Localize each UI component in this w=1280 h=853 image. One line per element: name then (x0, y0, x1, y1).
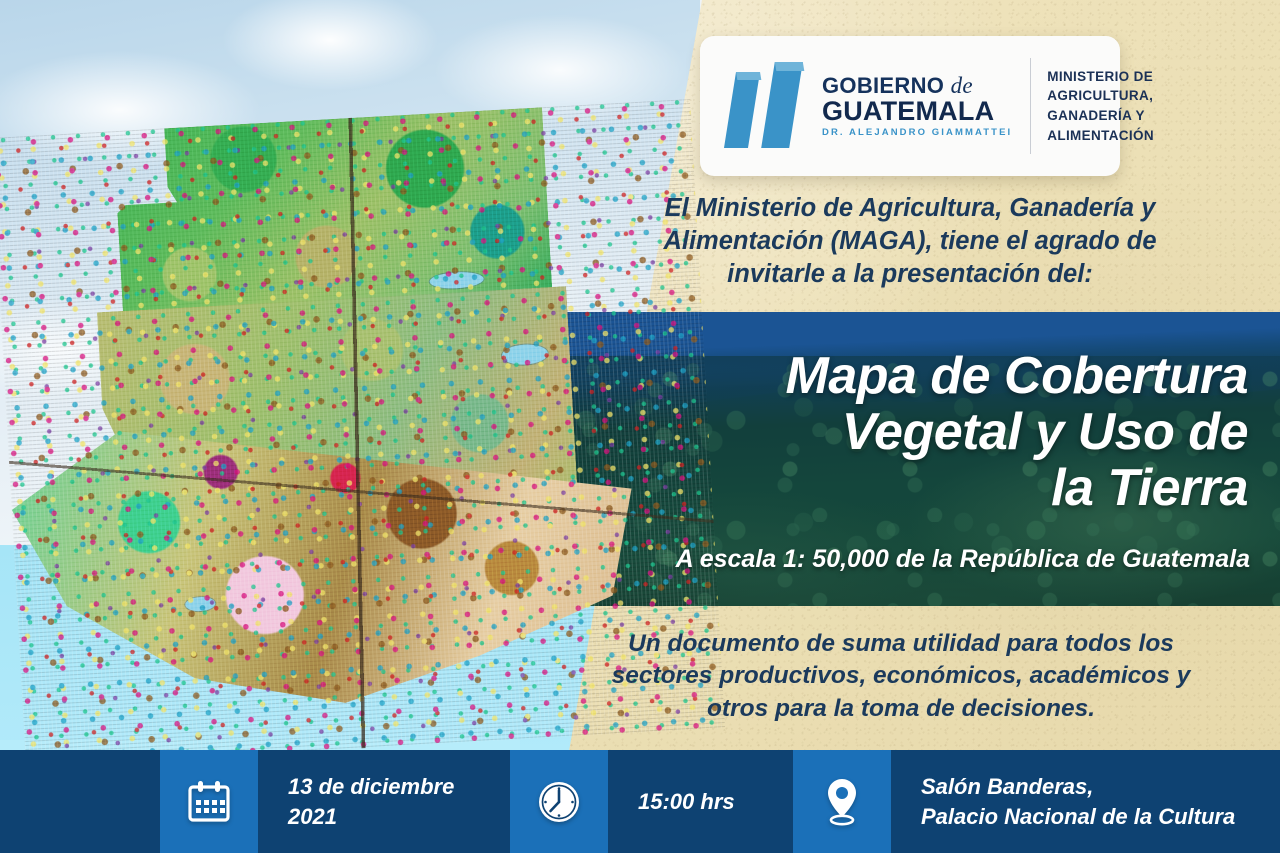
body-line-2: sectores productivos, económicos, académ… (556, 660, 1246, 692)
clock-icon (534, 777, 584, 827)
calendar-icon-tile (160, 750, 258, 853)
gobierno-wordmark: GOBIERNO de GUATEMALA DR. ALEJANDRO GIAM… (822, 74, 1012, 138)
title-line-3: la Tierra (600, 460, 1248, 516)
gobierno-bars-icon (724, 56, 816, 156)
location-pin-icon-tile (793, 750, 891, 853)
location-pin-icon (819, 776, 865, 828)
footer-left-spacer (0, 750, 160, 853)
intro-line-3: invitarle a la presentación del: (566, 258, 1254, 291)
title-scale-subtitle: A escala 1: 50,000 de la República de Gu… (560, 545, 1250, 574)
logo-guatemala-text: GUATEMALA (822, 97, 1012, 125)
event-location-line-2: Palacio Nacional de la Cultura (921, 802, 1235, 831)
intro-paragraph: El Ministerio de Agricultura, Ganadería … (566, 192, 1254, 291)
page-title: Mapa de Cobertura Vegetal y Uso de la Ti… (600, 348, 1248, 516)
event-date: 13 de diciembre 2021 (258, 750, 510, 853)
logo-divider (1030, 58, 1031, 154)
event-time: 15:00 hrs (608, 750, 793, 853)
title-line-1: Mapa de Cobertura (600, 348, 1248, 404)
clock-icon-tile (510, 750, 608, 853)
event-date-line-1: 13 de diciembre (288, 772, 454, 801)
title-line-2: Vegetal y Uso de (600, 404, 1248, 460)
event-date-line-2: 2021 (288, 802, 454, 831)
logo-gobierno-text: GOBIERNO (822, 73, 944, 98)
event-location-line-1: Salón Banderas, (921, 772, 1235, 801)
event-details-footer: 13 de diciembre 2021 15:00 hrs (0, 750, 1280, 853)
maga-logo-card: GOBIERNO de GUATEMALA DR. ALEJANDRO GIAM… (700, 36, 1120, 176)
logo-ministry-text: MINISTERIO DE AGRICULTURA, GANADERÍA Y A… (1047, 67, 1154, 146)
body-line-3: otros para la toma de decisiones. (556, 693, 1246, 725)
event-location: Salón Banderas, Palacio Nacional de la C… (891, 750, 1235, 853)
calendar-icon (185, 778, 233, 826)
intro-line-2: Alimentación (MAGA), tiene el agrado de (566, 225, 1254, 258)
logo-president-text: DR. ALEJANDRO GIAMMATTEI (822, 127, 1012, 138)
logo-gobierno-line: GOBIERNO de (822, 74, 1012, 97)
intro-line-1: El Ministerio de Agricultura, Ganadería … (566, 192, 1254, 225)
logo-de-text: de (951, 73, 973, 98)
body-paragraph: Un documento de suma utilidad para todos… (556, 628, 1246, 725)
invitation-poster: GOBIERNO de GUATEMALA DR. ALEJANDRO GIAM… (0, 0, 1280, 853)
body-line-1: Un documento de suma utilidad para todos… (556, 628, 1246, 660)
